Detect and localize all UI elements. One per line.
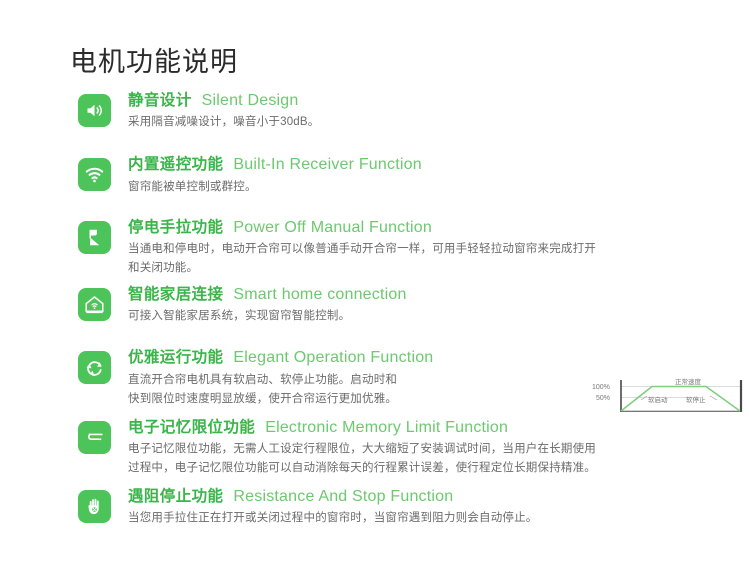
motor-function-page: 电机功能说明 静音设计Silent Design 采用隔音减噪设计，噪音小于30… (0, 0, 750, 562)
feature-title-cn: 静音设计 (128, 92, 192, 109)
row-spacer (78, 132, 750, 156)
feature-title-en: Power Off Manual Function (233, 219, 432, 236)
feature-text-memory-limit: 电子记忆限位功能Electronic Memory Limit Function… (128, 419, 750, 478)
row-spacer (78, 278, 750, 286)
feature-heading-power-off-manual: 停电手拉功能Power Off Manual Function (128, 219, 750, 237)
chart-ytick-50: 50% (596, 395, 610, 402)
memory-limit-icon (78, 421, 111, 454)
feature-desc-line: 采用隔音减噪设计，噪音小于30dB。 (128, 113, 750, 132)
feature-row-elegant-operation: 优雅运行功能Elegant Operation Function 直流开合帘电机… (78, 349, 750, 408)
feature-title-cn: 停电手拉功能 (128, 219, 223, 236)
speaker-icon (78, 94, 111, 127)
feature-desc-line: 过程中，电子记忆限位功能可以自动消除每天的行程累计误差，使行程定位长期保持精准。 (128, 459, 750, 478)
feature-text-power-off-manual: 停电手拉功能Power Off Manual Function 当通电和停电时，… (128, 219, 750, 278)
feature-title-cn: 智能家居连接 (128, 286, 223, 303)
feature-heading-memory-limit: 电子记忆限位功能Electronic Memory Limit Function (128, 419, 750, 437)
page-title: 电机功能说明 (70, 40, 238, 79)
feature-title-en: Built-In Receiver Function (233, 156, 421, 173)
feature-desc-line: 当您用手拉住正在打开或关闭过程中的窗帘时，当窗帘遇到阻力则会自动停止。 (128, 509, 750, 528)
feature-list: 静音设计Silent Design 采用隔音减噪设计，噪音小于30dB。 内置遥… (78, 92, 750, 528)
feature-row-smart-home: 智能家居连接Smart home connection 可接入智能家居系统，实现… (78, 286, 750, 326)
feature-title-cn: 遇阻停止功能 (128, 488, 223, 505)
power-off-pull-icon (78, 221, 111, 254)
feature-title-cn: 电子记忆限位功能 (128, 419, 255, 436)
feature-heading-smart-home: 智能家居连接Smart home connection (128, 286, 750, 304)
feature-text-silent-design: 静音设计Silent Design 采用隔音减噪设计，噪音小于30dB。 (128, 92, 750, 132)
feature-desc-line: 窗帘能被单控制或群控。 (128, 178, 750, 197)
feature-row-builtin-receiver: 内置遥控功能Built-In Receiver Function 窗帘能被单控制… (78, 156, 750, 196)
feature-heading-builtin-receiver: 内置遥控功能Built-In Receiver Function (128, 156, 750, 174)
feature-text-builtin-receiver: 内置遥控功能Built-In Receiver Function 窗帘能被单控制… (128, 156, 750, 196)
feature-title-en: Resistance And Stop Function (233, 488, 453, 505)
chart-label-normal-speed: 正常速度 (675, 377, 702, 386)
feature-heading-elegant-operation: 优雅运行功能Elegant Operation Function (128, 349, 750, 367)
feature-row-silent-design: 静音设计Silent Design 采用隔音减噪设计，噪音小于30dB。 (78, 92, 750, 132)
feature-title-cn: 优雅运行功能 (128, 349, 223, 366)
feature-desc-line: 可接入智能家居系统，实现窗帘智能控制。 (128, 307, 750, 326)
feature-heading-silent-design: 静音设计Silent Design (128, 92, 750, 110)
cycle-arrows-icon (78, 351, 111, 384)
feature-title-en: Smart home connection (233, 286, 406, 303)
feature-desc-line: 当通电和停电时，电动开合帘可以像普通手动开合帘一样，可用手轻轻拉动窗帘来完成打开… (128, 240, 598, 278)
feature-text-resistance-stop: 遇阻停止功能Resistance And Stop Function 当您用手拉… (128, 488, 750, 528)
feature-title-en: Electronic Memory Limit Function (265, 419, 508, 436)
row-spacer (78, 197, 750, 219)
speed-curve-chart: 100% 50% 正常速度 软启动 (590, 375, 750, 415)
feature-title-en: Silent Design (202, 92, 299, 109)
row-spacer (78, 478, 750, 488)
smart-home-house-icon (78, 288, 111, 321)
row-spacer (78, 326, 750, 349)
chart-label-soft-start: 软启动 (648, 395, 668, 404)
feature-title-cn: 内置遥控功能 (128, 156, 223, 173)
feature-text-smart-home: 智能家居连接Smart home connection 可接入智能家居系统，实现… (128, 286, 750, 326)
feature-row-resistance-stop: 遇阻停止功能Resistance And Stop Function 当您用手拉… (78, 488, 750, 528)
chart-ytick-100: 100% (592, 384, 610, 391)
feature-row-memory-limit: 电子记忆限位功能Electronic Memory Limit Function… (78, 419, 750, 478)
chart-label-soft-stop: 软停止 (686, 395, 706, 404)
feature-desc-line: 电子记忆限位功能，无需人工设定行程限位，大大缩短了安装调试时间，当用户在长期使用 (128, 440, 750, 459)
hand-stop-icon (78, 490, 111, 523)
feature-title-en: Elegant Operation Function (233, 349, 433, 366)
wifi-signal-icon (78, 158, 111, 191)
feature-row-power-off-manual: 停电手拉功能Power Off Manual Function 当通电和停电时，… (78, 219, 750, 278)
feature-heading-resistance-stop: 遇阻停止功能Resistance And Stop Function (128, 488, 750, 506)
